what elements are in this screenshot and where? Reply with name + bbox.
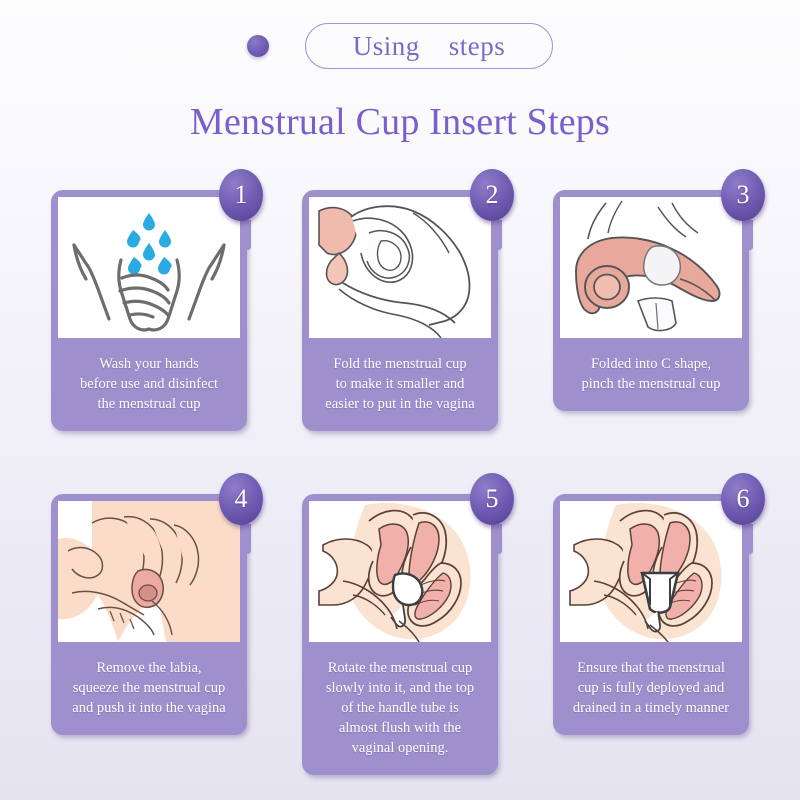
step-number-label: 1: [235, 182, 248, 208]
step-number-label: 6: [737, 486, 750, 512]
page-title: Menstrual Cup Insert Steps: [0, 100, 800, 144]
step-number-label: 3: [737, 182, 750, 208]
infographic-page: Using steps Menstrual Cup Insert Steps 1: [0, 0, 800, 800]
step-card-6[interactable]: 6: [553, 494, 749, 735]
badge-stem-1: [244, 220, 251, 250]
badge-stem-4: [244, 524, 251, 554]
cup-deployed-anatomy-cross-section-icon: [560, 501, 742, 642]
badge-stem-2: [495, 220, 502, 250]
step-card-3[interactable]: 3: [553, 190, 749, 411]
step-number-label: 4: [235, 486, 248, 512]
using-steps-label: Using steps: [353, 31, 506, 62]
using-steps-pill: Using steps: [305, 23, 553, 69]
bullet-dot-icon: [247, 35, 269, 57]
step-caption-6: Ensure that the menstrual cup is fully d…: [560, 642, 742, 735]
step-caption-1: Wash your hands before use and disinfect…: [58, 338, 240, 431]
steps-row-top: 1: [0, 190, 800, 431]
step-caption-3: Folded into C shape, pinch the menstrual…: [560, 338, 742, 411]
steps-row-bottom: 4: [0, 494, 800, 775]
step-caption-2: Fold the menstrual cup to make it smalle…: [309, 338, 491, 431]
step-card-5[interactable]: 5: [302, 494, 498, 775]
step-caption-4: Remove the labia, squeeze the menstrual …: [58, 642, 240, 735]
step-card-1[interactable]: 1: [51, 190, 247, 431]
step-number-badge-6: 6: [721, 473, 765, 525]
step-number-label: 5: [486, 486, 499, 512]
fingers-pinching-c-fold-cup-icon: [560, 197, 742, 338]
step-number-badge-4: 4: [219, 473, 263, 525]
step-card-2[interactable]: 2 Fold the menstrual cup t: [302, 190, 498, 431]
step-number-badge-5: 5: [470, 473, 514, 525]
step-card-4[interactable]: 4: [51, 494, 247, 735]
step-number-badge-3: 3: [721, 169, 765, 221]
step-number-badge-1: 1: [219, 169, 263, 221]
step-number-label: 2: [486, 182, 499, 208]
badge-stem-3: [746, 220, 753, 250]
step-number-badge-2: 2: [470, 169, 514, 221]
badge-stem-5: [495, 524, 502, 554]
hand-folding-menstrual-cup-icon: [309, 197, 491, 338]
step-caption-5: Rotate the menstrual cup slowly into it,…: [309, 642, 491, 775]
badge-stem-6: [746, 524, 753, 554]
hand-separating-labia-icon: [58, 501, 240, 642]
steps-grid: 1: [0, 190, 800, 775]
cup-inserted-anatomy-cross-section-icon: [309, 501, 491, 642]
washing-hands-with-water-drops-icon: [58, 197, 240, 338]
header-banner: Using steps: [0, 20, 800, 72]
